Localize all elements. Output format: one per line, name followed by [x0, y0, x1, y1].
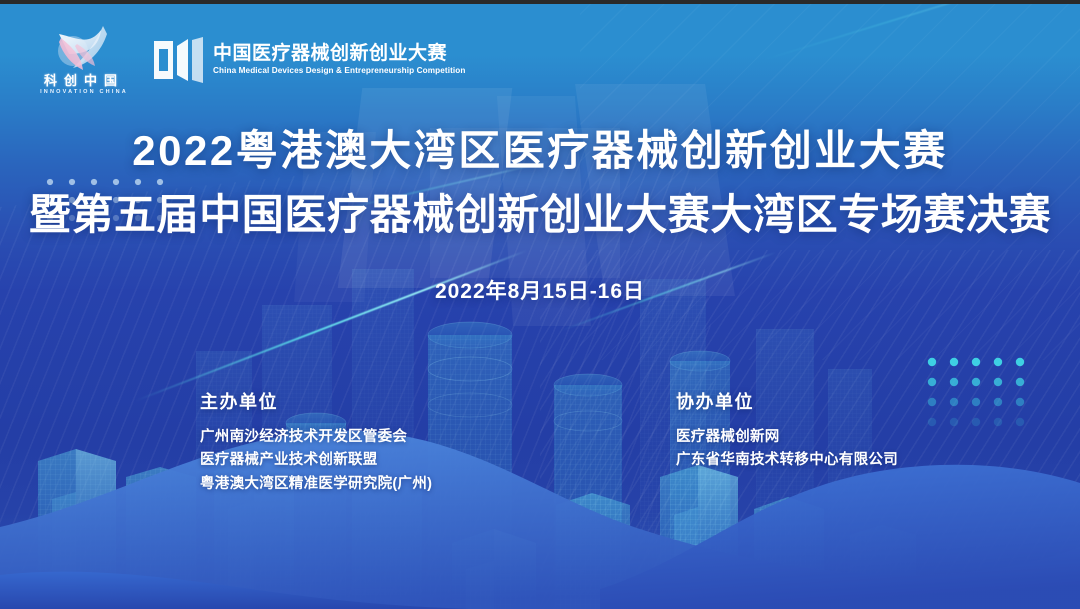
co-organizer-item: 广东省华南技术转移中心有限公司 — [676, 449, 898, 472]
top-letterbox-bar — [0, 0, 1080, 4]
co-organizer-label: 协办单位 — [676, 388, 898, 414]
host-organizer-item: 广州南沙经济技术开发区管委会 — [200, 426, 432, 449]
open-door-mark-icon — [152, 37, 204, 83]
logo-row: 科创中国 INNOVATION CHINA 中国医疗器械创新创业大赛 China… — [34, 24, 465, 96]
logo-innovation-china-en: INNOVATION CHINA — [40, 90, 128, 96]
co-organizer-item: 医疗器械创新网 — [676, 426, 898, 449]
logo-competition: 中国医疗器械创新创业大赛 China Medical Devices Desig… — [152, 37, 465, 83]
logo-innovation-china: 科创中国 INNOVATION CHINA — [34, 24, 134, 96]
logo-competition-en: China Medical Devices Design & Entrepren… — [213, 66, 465, 76]
title-line-1: 2022粤港澳大湾区医疗器械创新创业大赛 — [0, 126, 1080, 176]
light-beam — [760, 0, 1047, 61]
event-date: 2022年8月15日-16日 — [0, 275, 1080, 305]
wave-front — [0, 431, 1080, 609]
host-organizer-item: 医疗器械产业技术创新联盟 — [200, 449, 432, 472]
logo-competition-cn: 中国医疗器械创新创业大赛 — [213, 43, 465, 64]
bottom-wave-shapes — [0, 379, 1080, 609]
host-organizer-block: 主办单位 广州南沙经济技术开发区管委会 医疗器械产业技术创新联盟 粤港澳大湾区精… — [200, 388, 432, 496]
wave-left-low — [0, 572, 470, 609]
wave-right — [600, 465, 1080, 609]
host-organizer-label: 主办单位 — [200, 388, 432, 414]
host-organizer-item: 粤港澳大湾区精准医学研究院(广州) — [200, 473, 432, 496]
logo-innovation-china-cn: 科创中国 — [44, 74, 124, 87]
butterfly-mark-icon — [43, 24, 125, 72]
event-poster: 科创中国 INNOVATION CHINA 中国医疗器械创新创业大赛 China… — [0, 0, 1080, 609]
dot-grid-right — [926, 356, 1030, 428]
co-organizer-block: 协办单位 医疗器械创新网 广东省华南技术转移中心有限公司 — [676, 388, 898, 473]
headline-block: 2022粤港澳大湾区医疗器械创新创业大赛 暨第五届中国医疗器械创新创业大赛大湾区… — [0, 126, 1080, 305]
title-line-2: 暨第五届中国医疗器械创新创业大赛大湾区专场赛决赛 — [0, 190, 1080, 240]
